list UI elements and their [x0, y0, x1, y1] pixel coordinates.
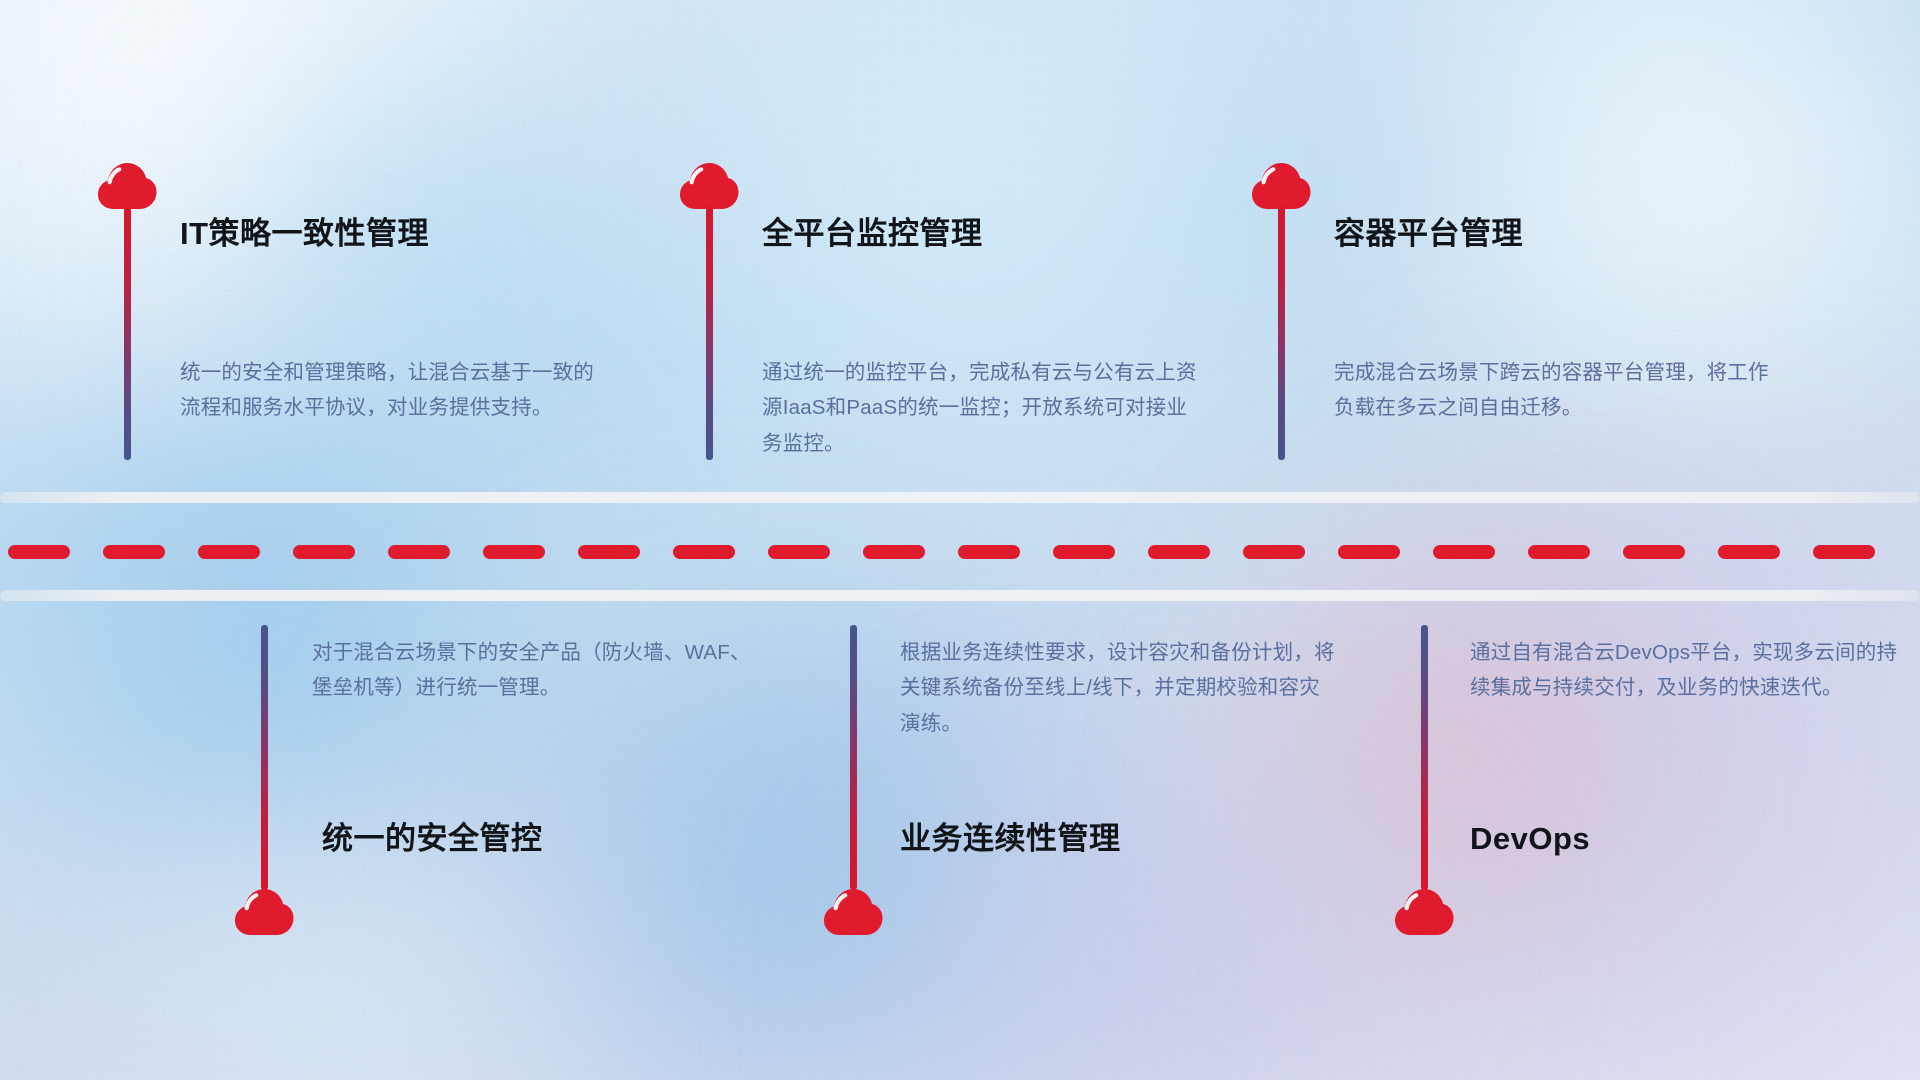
- pin-stem: [261, 625, 268, 890]
- road-dash: [8, 545, 70, 559]
- card-title: DevOps: [1470, 820, 1890, 857]
- pin-stem: [1421, 625, 1428, 890]
- card-devops: DevOps: [1470, 820, 1890, 857]
- road-dash: [578, 545, 640, 559]
- cloud-icon: [678, 160, 740, 210]
- marker-it-policy-consistency: [96, 160, 158, 210]
- card-body-devops: 通过自有混合云DevOps平台，实现多云间的持续集成与持续交付，及业务的快速迭代…: [1470, 635, 1910, 706]
- cloud-icon: [96, 160, 158, 210]
- card-title: 业务连续性管理: [900, 820, 1320, 857]
- road-dash: [1148, 545, 1210, 559]
- road-line-lower: [0, 590, 1920, 601]
- card-unified-security: 统一的安全管控: [322, 820, 742, 857]
- card-body-text: 根据业务连续性要求，设计容灾和备份计划，将关键系统备份至线上/线下，并定期校验和…: [900, 635, 1340, 741]
- card-body-business-continuity: 根据业务连续性要求，设计容灾和备份计划，将关键系统备份至线上/线下，并定期校验和…: [900, 635, 1340, 741]
- pin-stem: [706, 206, 713, 460]
- card-body-full-platform-monitoring: 通过统一的监控平台，完成私有云与公有云上资源IaaS和PaaS的统一监控；开放系…: [762, 355, 1202, 461]
- pin-stem: [124, 206, 131, 460]
- road-dash: [1243, 545, 1305, 559]
- road-dash: [388, 545, 450, 559]
- road-dash: [1813, 545, 1875, 559]
- pin-stem: [850, 625, 857, 890]
- road-line-upper: [0, 492, 1920, 503]
- cloud-icon: [1393, 886, 1455, 936]
- card-container-platform: 容器平台管理: [1334, 215, 1754, 252]
- road-dash: [1528, 545, 1590, 559]
- road-dash: [483, 545, 545, 559]
- card-it-policy-consistency: IT策略一致性管理: [180, 215, 600, 252]
- card-body-text: 完成混合云场景下跨云的容器平台管理，将工作负载在多云之间自由迁移。: [1334, 355, 1774, 426]
- card-full-platform-monitoring: 全平台监控管理: [762, 215, 1182, 252]
- road-dash: [863, 545, 925, 559]
- marker-container-platform: [1250, 160, 1312, 210]
- road-dash: [1718, 545, 1780, 559]
- road-dash: [958, 545, 1020, 559]
- card-title: 容器平台管理: [1334, 215, 1754, 252]
- card-title: 统一的安全管控: [322, 820, 742, 857]
- card-body-it-policy-consistency: 统一的安全和管理策略，让混合云基于一致的流程和服务水平协议，对业务提供支持。: [180, 355, 610, 426]
- infographic-canvas: IT策略一致性管理 统一的安全和管理策略，让混合云基于一致的流程和服务水平协议，…: [0, 0, 1920, 1080]
- card-body-unified-security: 对于混合云场景下的安全产品（防火墙、WAF、堡垒机等）进行统一管理。: [312, 635, 752, 706]
- road-dash: [1433, 545, 1495, 559]
- card-body-text: 通过自有混合云DevOps平台，实现多云间的持续集成与持续交付，及业务的快速迭代…: [1470, 635, 1910, 706]
- marker-full-platform-monitoring: [678, 160, 740, 210]
- card-body-text: 对于混合云场景下的安全产品（防火墙、WAF、堡垒机等）进行统一管理。: [312, 635, 752, 706]
- card-title: IT策略一致性管理: [180, 215, 600, 252]
- road-dash: [1623, 545, 1685, 559]
- road-dash: [673, 545, 735, 559]
- pin-stem: [1278, 206, 1285, 460]
- card-body-text: 统一的安全和管理策略，让混合云基于一致的流程和服务水平协议，对业务提供支持。: [180, 355, 610, 426]
- road-dash: [1053, 545, 1115, 559]
- road-dash: [768, 545, 830, 559]
- card-body-text: 通过统一的监控平台，完成私有云与公有云上资源IaaS和PaaS的统一监控；开放系…: [762, 355, 1202, 461]
- card-business-continuity: 业务连续性管理: [900, 820, 1320, 857]
- road-dash: [1338, 545, 1400, 559]
- cloud-icon: [233, 886, 295, 936]
- cloud-icon: [822, 886, 884, 936]
- card-body-container-platform: 完成混合云场景下跨云的容器平台管理，将工作负载在多云之间自由迁移。: [1334, 355, 1774, 426]
- cloud-icon: [1250, 160, 1312, 210]
- card-title: 全平台监控管理: [762, 215, 1182, 252]
- road-dashed-centerline: [0, 545, 1920, 559]
- road-dash: [293, 545, 355, 559]
- road-dash: [103, 545, 165, 559]
- road-dash: [198, 545, 260, 559]
